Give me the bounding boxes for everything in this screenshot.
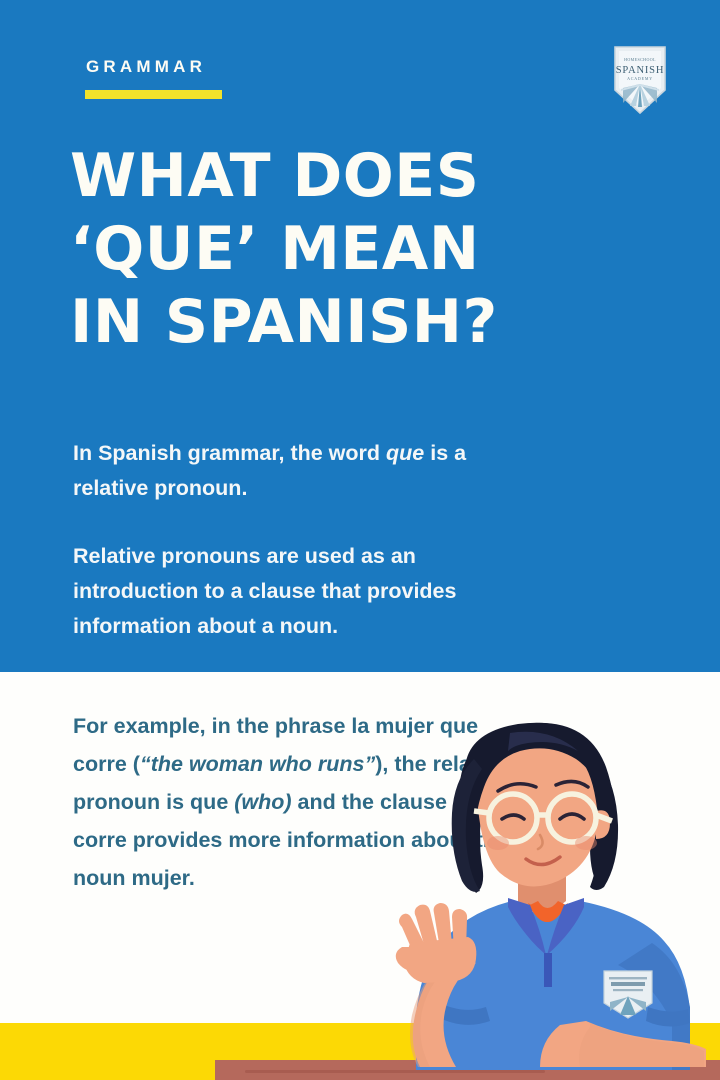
svg-text:SPANISH: SPANISH [616,65,664,76]
example-italic-who: (who) [234,790,291,814]
intro-p1-italic-que: que [386,441,424,465]
example-part-2: ( [127,752,140,776]
svg-text:ACADEMY: ACADEMY [627,76,653,81]
category-underline-rule [85,90,222,99]
page-title: WHAT DOES ‘QUE’ MEAN IN SPANISH? [70,140,630,359]
headline-line-2: ‘QUE’ MEAN [70,213,630,286]
headline-line-1: WHAT DOES [70,140,630,213]
academy-logo: HOMESCHOOL SPANISH ACADEMY [612,44,668,116]
category-label: GRAMMAR [86,57,206,77]
intro-p1-before: In Spanish grammar, the word [73,441,386,465]
headline-line-3: IN SPANISH? [70,286,630,359]
example-bold-que: que [190,790,228,814]
svg-text:HOMESCHOOL: HOMESCHOOL [624,57,656,62]
intro-paragraph-1: In Spanish grammar, the word que is a re… [73,436,543,506]
example-italic-translation: “the woman who runs” [140,752,375,776]
woman-teacher-illustration [390,715,720,1070]
intro-paragraph-2: Relative pronouns are used as an introdu… [73,539,543,644]
infographic-poster: GRAMMAR HOMESCHOOL SPANISH ACADEMY WHAT … [0,0,720,1080]
desk-wood-grain [245,1070,545,1073]
example-part-1: For example, in the phrase [73,714,351,738]
intro-text-block: In Spanish grammar, the word que is a re… [73,436,543,644]
